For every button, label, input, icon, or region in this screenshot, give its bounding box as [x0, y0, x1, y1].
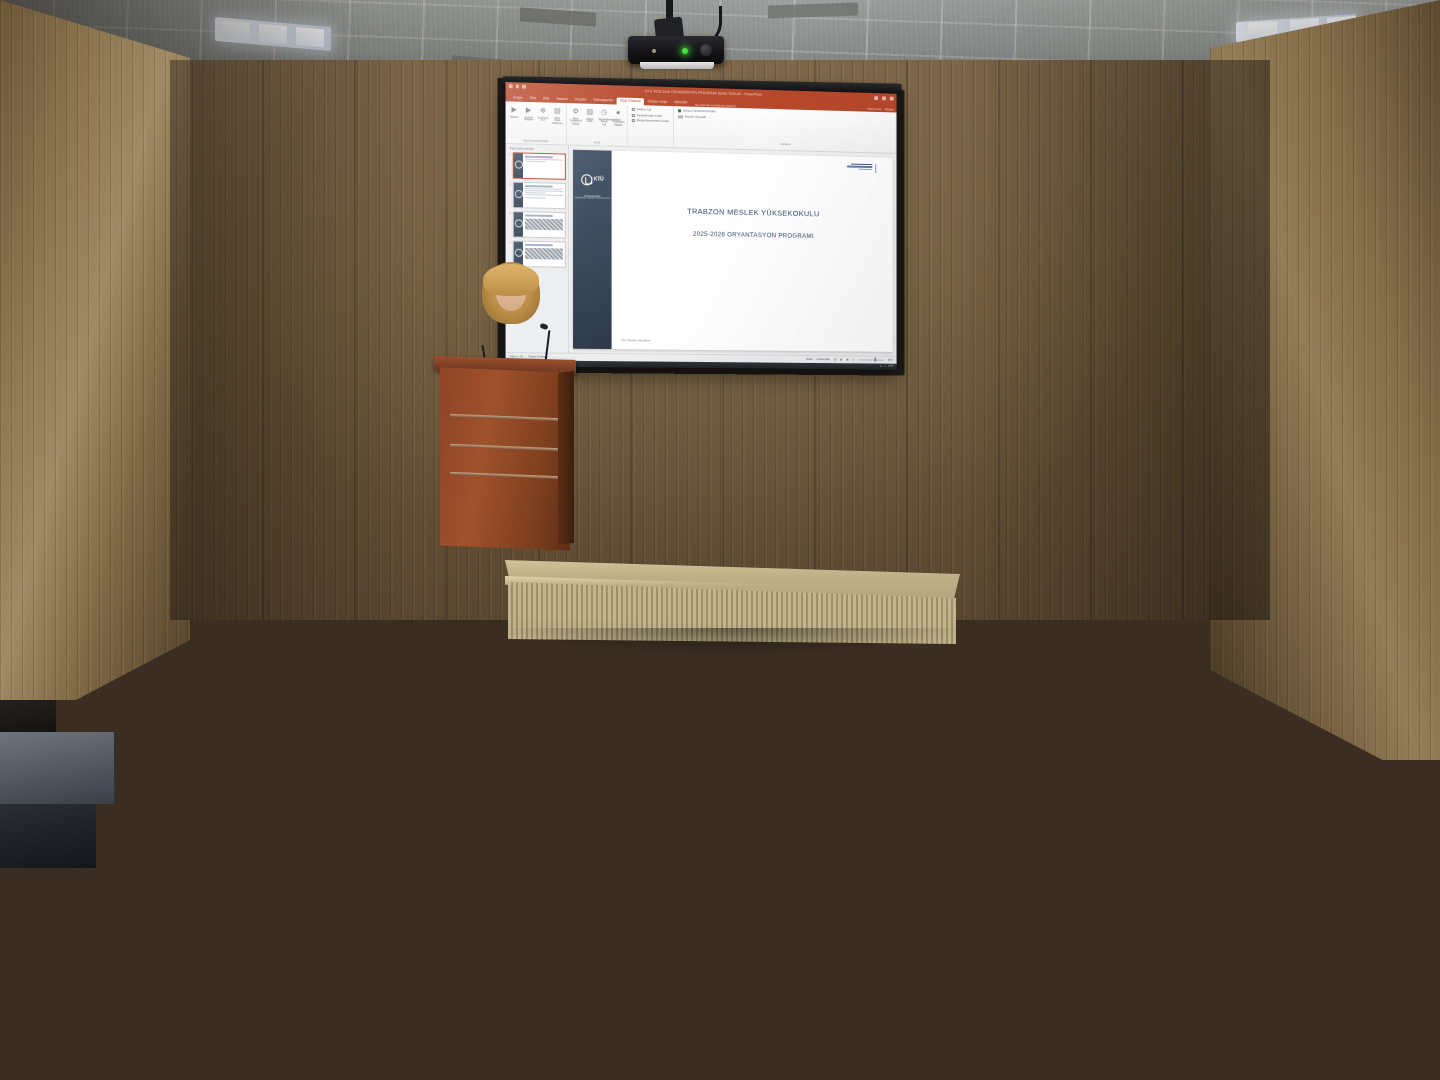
thumbnail-sidebar	[513, 212, 522, 237]
ktu-logo-text: KTÜ	[594, 176, 604, 182]
setup-show-icon: ⚙	[570, 105, 581, 117]
minimize-icon[interactable]	[874, 96, 878, 100]
slide-footer-note: Not: Slaytları sağ tıklayın	[622, 339, 651, 342]
ribbon-group-setup-options: Anlatımı Çal Zamanlamaları Kullan Medya …	[628, 105, 674, 147]
ribbon-button-label: Zamanlamalara Prova Yap	[598, 119, 609, 128]
play-from-start-icon: ▶	[509, 103, 520, 115]
quick-access-toolbar[interactable]	[509, 84, 526, 88]
view-reading-icon[interactable]: ▣	[846, 358, 848, 361]
ribbon-check-play-narration[interactable]: Anlatımı Çal	[632, 108, 669, 112]
ribbon-button-record[interactable]: ● Slayt Gösterisini Kaydet	[613, 106, 624, 128]
ribbon-group-start-show: ▶ Baştan ▶ Geçerli Slayttan ⊕ Çevrimiçi …	[506, 101, 567, 144]
ribbon-option-label: Monitör: Otomatik	[685, 115, 705, 119]
undo-icon[interactable]	[515, 84, 519, 88]
present-online-icon: ⊕	[537, 104, 548, 116]
view-slideshow-icon[interactable]: ▷	[853, 358, 855, 361]
ribbon-option-label: Anlatımı Çal	[637, 108, 651, 111]
ribbon-button-label: Slaydı Gizle	[584, 118, 595, 124]
custom-show-icon: ▤	[552, 105, 563, 117]
ktu-logo-icon: KTÜ	[580, 172, 604, 187]
audience-torso	[0, 804, 96, 868]
window-title: KTU 2025-2026 ORYANTASYON PROGRAMI SUNU …	[645, 89, 762, 96]
slide-title-line-1: TRABZON MESLEK YÜKSEKOKULU	[622, 205, 883, 219]
presenter-hair-front	[483, 264, 539, 296]
podium-face	[440, 367, 570, 550]
left-wall	[0, 0, 190, 700]
ktu-logo-subtext: KARADENİZ TEKNİK ÜNİVERSİTESİ	[575, 197, 610, 200]
ribbon-button-present-online[interactable]: ⊕ Çevrimiçi Sun	[537, 104, 548, 123]
thumbnail-number: 1	[508, 152, 511, 156]
ribbon-button-custom-show[interactable]: ▤ Özel Slayt Gösterisi	[552, 105, 563, 127]
slide-thumbnail[interactable]: 2	[508, 182, 566, 210]
ribbon-button-label: Slayt Gösterisini Ayarla	[570, 118, 581, 127]
notes-button[interactable]: Notlar	[806, 358, 813, 361]
podium-side	[558, 371, 574, 545]
ribbon-button-label: Çevrimiçi Sun	[537, 117, 548, 123]
checkbox-icon[interactable]	[632, 108, 635, 111]
ribbon-button-label: Baştan	[509, 116, 520, 119]
current-slide[interactable]: KTÜ KARADENİZ TEKNİK ÜNİVERSİTESİ	[573, 150, 893, 352]
clock: 14:07	[888, 365, 894, 368]
slide-sidebar: KTÜ KARADENİZ TEKNİK ÜNİVERSİTESİ	[573, 150, 612, 349]
auditorium-scene: KTU 2025-2026 ORYANTASYON PROGRAMI SUNU …	[0, 0, 1440, 1080]
checkbox-icon[interactable]	[632, 119, 635, 122]
thumbnail-sidebar	[513, 183, 522, 208]
zoom-level: 66%	[888, 359, 893, 362]
network-icon[interactable]: ▲	[880, 365, 882, 368]
dropdown-icon[interactable]	[678, 115, 683, 118]
ribbon-group-setup: ⚙ Slayt Gösterisini Ayarla ▨ Slaydı Gizl…	[567, 103, 628, 146]
slide-body: TRABZON MESLEK YÜKSEKOKULU 2025-2026 ORY…	[612, 151, 893, 352]
slide-sidebar-caption: KARADENİZ TEKNİK ÜNİVERSİTESİ	[575, 195, 610, 201]
ribbon-button-setup-show[interactable]: ⚙ Slayt Gösterisini Ayarla	[570, 105, 581, 127]
redo-icon[interactable]	[522, 85, 526, 89]
slide-corner-logo-icon	[847, 164, 876, 174]
sign-in-link[interactable]: Oturum Aç	[867, 106, 881, 110]
ribbon-option-label: Zamanlamaları Kullan	[637, 114, 662, 118]
projector-power-led-icon	[682, 48, 688, 54]
auditorium-seat[interactable]	[0, 868, 96, 942]
zoom-slider[interactable]	[859, 359, 884, 360]
slide-editing-area[interactable]: KTÜ KARADENİZ TEKNİK ÜNİVERSİTESİ	[569, 146, 897, 356]
podium-trim	[450, 472, 558, 479]
ktu-logo-mark-icon	[581, 174, 592, 185]
thumbnail-preview	[512, 152, 566, 180]
window-buttons[interactable]	[874, 96, 893, 101]
thumbnail-number: 4	[508, 240, 511, 244]
ribbon-button-label: Geçerli Slayttan	[523, 117, 534, 123]
ribbon-button-rehearse[interactable]: ◷ Zamanlamalara Prova Yap	[598, 106, 609, 128]
thumbnail-preview	[512, 182, 566, 209]
share-button[interactable]: Paylaş	[885, 107, 894, 111]
hide-slide-icon: ▨	[584, 106, 595, 118]
ribbon-option-label: Medya Denetimlerini Göster	[637, 119, 669, 123]
rehearse-timings-icon: ◷	[598, 106, 609, 118]
projector-lamp-led-icon	[652, 49, 656, 53]
checkbox-icon[interactable]	[632, 114, 635, 117]
thumbnail-photo	[525, 248, 563, 260]
play-from-current-icon: ▶	[523, 104, 534, 116]
speaker-podium	[440, 358, 570, 548]
view-sorter-icon[interactable]: ▦	[840, 358, 842, 361]
thumbnail-content	[522, 154, 564, 179]
thumbnail-photo	[525, 218, 563, 230]
thumbnail-preview	[512, 211, 566, 238]
projector-lens-icon	[700, 44, 712, 56]
checkbox-icon[interactable]	[678, 109, 681, 112]
thumbnail-pane-header: Slayt küçük resimleri	[508, 147, 566, 151]
system-tray[interactable]: ▲ ♪ 14:07	[880, 365, 894, 368]
ribbon-button-from-beginning[interactable]: ▶ Baştan	[509, 103, 520, 119]
ribbon-check-use-timings[interactable]: Zamanlamaları Kullan	[632, 114, 669, 118]
slide-thumbnail[interactable]: 3	[508, 211, 566, 238]
podium-trim	[450, 444, 558, 451]
ribbon-option-label: Sunucu Görünümünü Kullan	[683, 109, 716, 113]
wall-panel-texture	[0, 0, 190, 700]
thumbnail-sidebar	[513, 153, 522, 178]
slide-title-line-2: 2025-2026 ORYANTASYON PROGRAMI	[622, 229, 883, 241]
thumbnail-number: 2	[508, 182, 511, 186]
podium-trim	[450, 414, 558, 421]
ribbon-button-label: Özel Slayt Gösterisi	[552, 117, 563, 126]
stage-shadow	[500, 628, 970, 654]
ribbon-button-label: Slayt Gösterisini Kaydet	[613, 119, 624, 128]
ribbon-button-from-current[interactable]: ▶ Geçerli Slayttan	[523, 104, 534, 123]
view-normal-icon[interactable]: ▤	[834, 358, 836, 361]
save-icon[interactable]	[509, 84, 513, 88]
comments-button[interactable]: Açıklamalar	[817, 358, 830, 361]
ribbon-button-hide-slide[interactable]: ▨ Slaydı Gizle	[584, 106, 595, 125]
ribbon-check-media-controls[interactable]: Medya Denetimlerini Göster	[632, 119, 669, 123]
thumbnail-content	[522, 183, 564, 208]
record-slideshow-icon: ●	[613, 106, 624, 118]
volume-icon[interactable]: ♪	[884, 365, 885, 368]
thumbnail-number: 3	[508, 211, 511, 215]
restore-icon[interactable]	[882, 96, 886, 100]
ribbon-group-monitors: Sunucu Görünümünü Kullan Monitör: Otomat…	[674, 106, 896, 153]
projector-base	[640, 62, 714, 69]
close-icon[interactable]	[890, 96, 894, 100]
auditorium-seat[interactable]	[0, 1016, 96, 1080]
slide-thumbnail[interactable]: 1	[508, 152, 566, 180]
thumbnail-content	[522, 212, 564, 237]
presenter	[452, 262, 570, 372]
auditorium-seat[interactable]	[0, 942, 96, 1016]
audience-torso	[0, 732, 114, 804]
